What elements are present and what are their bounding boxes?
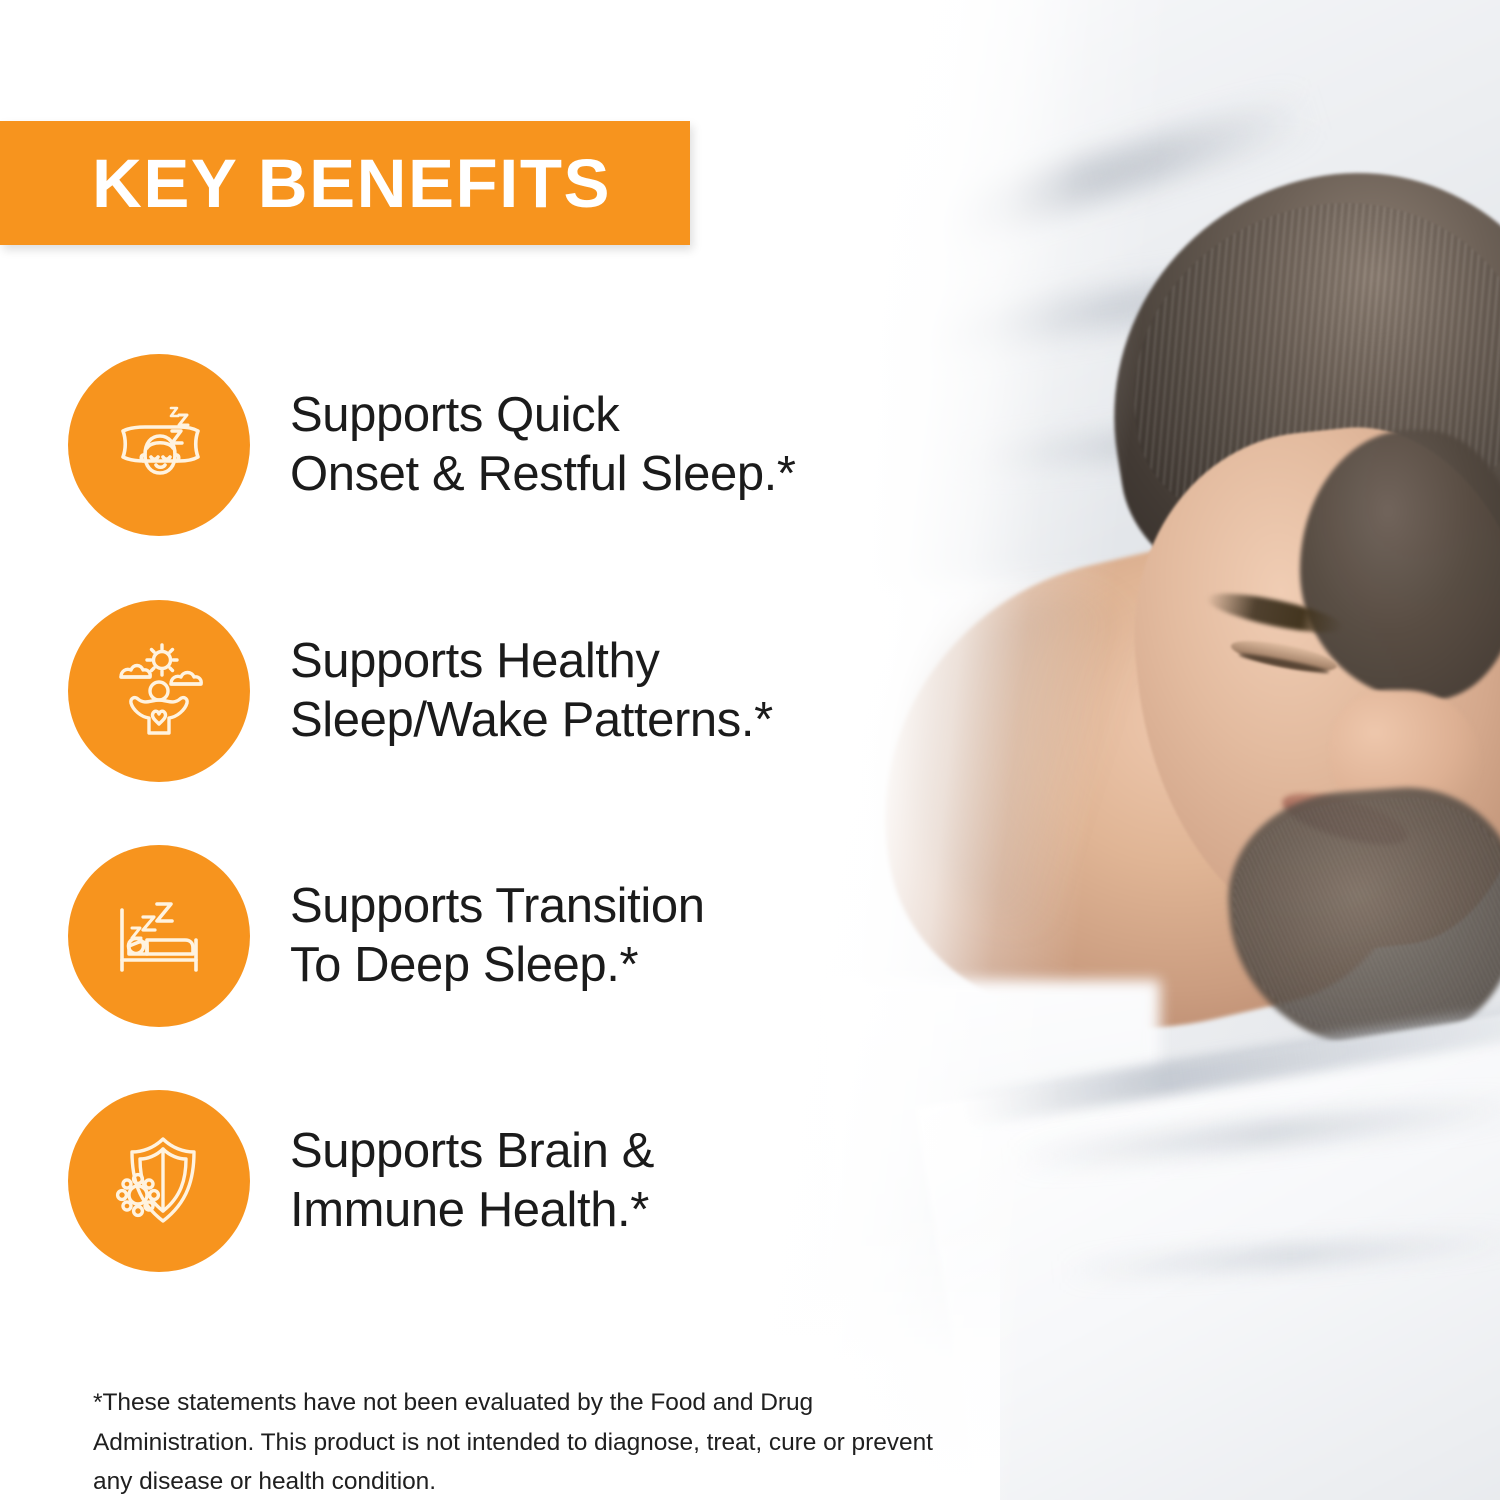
fda-disclaimer: *These statements have not been evaluate… bbox=[93, 1383, 973, 1500]
page-title: KEY BENEFITS bbox=[92, 149, 611, 218]
benefit-item: Supports Healthy Sleep/Wake Patterns.* bbox=[68, 600, 948, 782]
infographic-canvas: KEY BENEFITS bbox=[0, 0, 1500, 1500]
sleeping-face-pillow-icon bbox=[68, 354, 250, 536]
benefit-label: Supports Brain & Immune Health.* bbox=[290, 1122, 654, 1240]
benefit-item: Supports Transition To Deep Sleep.* bbox=[68, 845, 948, 1027]
person-in-bed-zzz-icon bbox=[68, 845, 250, 1027]
benefit-label: Supports Healthy Sleep/Wake Patterns.* bbox=[290, 632, 773, 750]
content-layer: KEY BENEFITS bbox=[0, 0, 1500, 1500]
benefit-item: Supports Brain & Immune Health.* bbox=[68, 1090, 948, 1272]
shield-virus-icon bbox=[68, 1090, 250, 1272]
benefit-label: Supports Transition To Deep Sleep.* bbox=[290, 877, 705, 995]
person-sun-clouds-heart-icon bbox=[68, 600, 250, 782]
benefit-item: Supports Quick Onset & Restful Sleep.* bbox=[68, 354, 948, 536]
key-benefits-banner: KEY BENEFITS bbox=[0, 121, 690, 245]
benefit-label: Supports Quick Onset & Restful Sleep.* bbox=[290, 386, 796, 504]
